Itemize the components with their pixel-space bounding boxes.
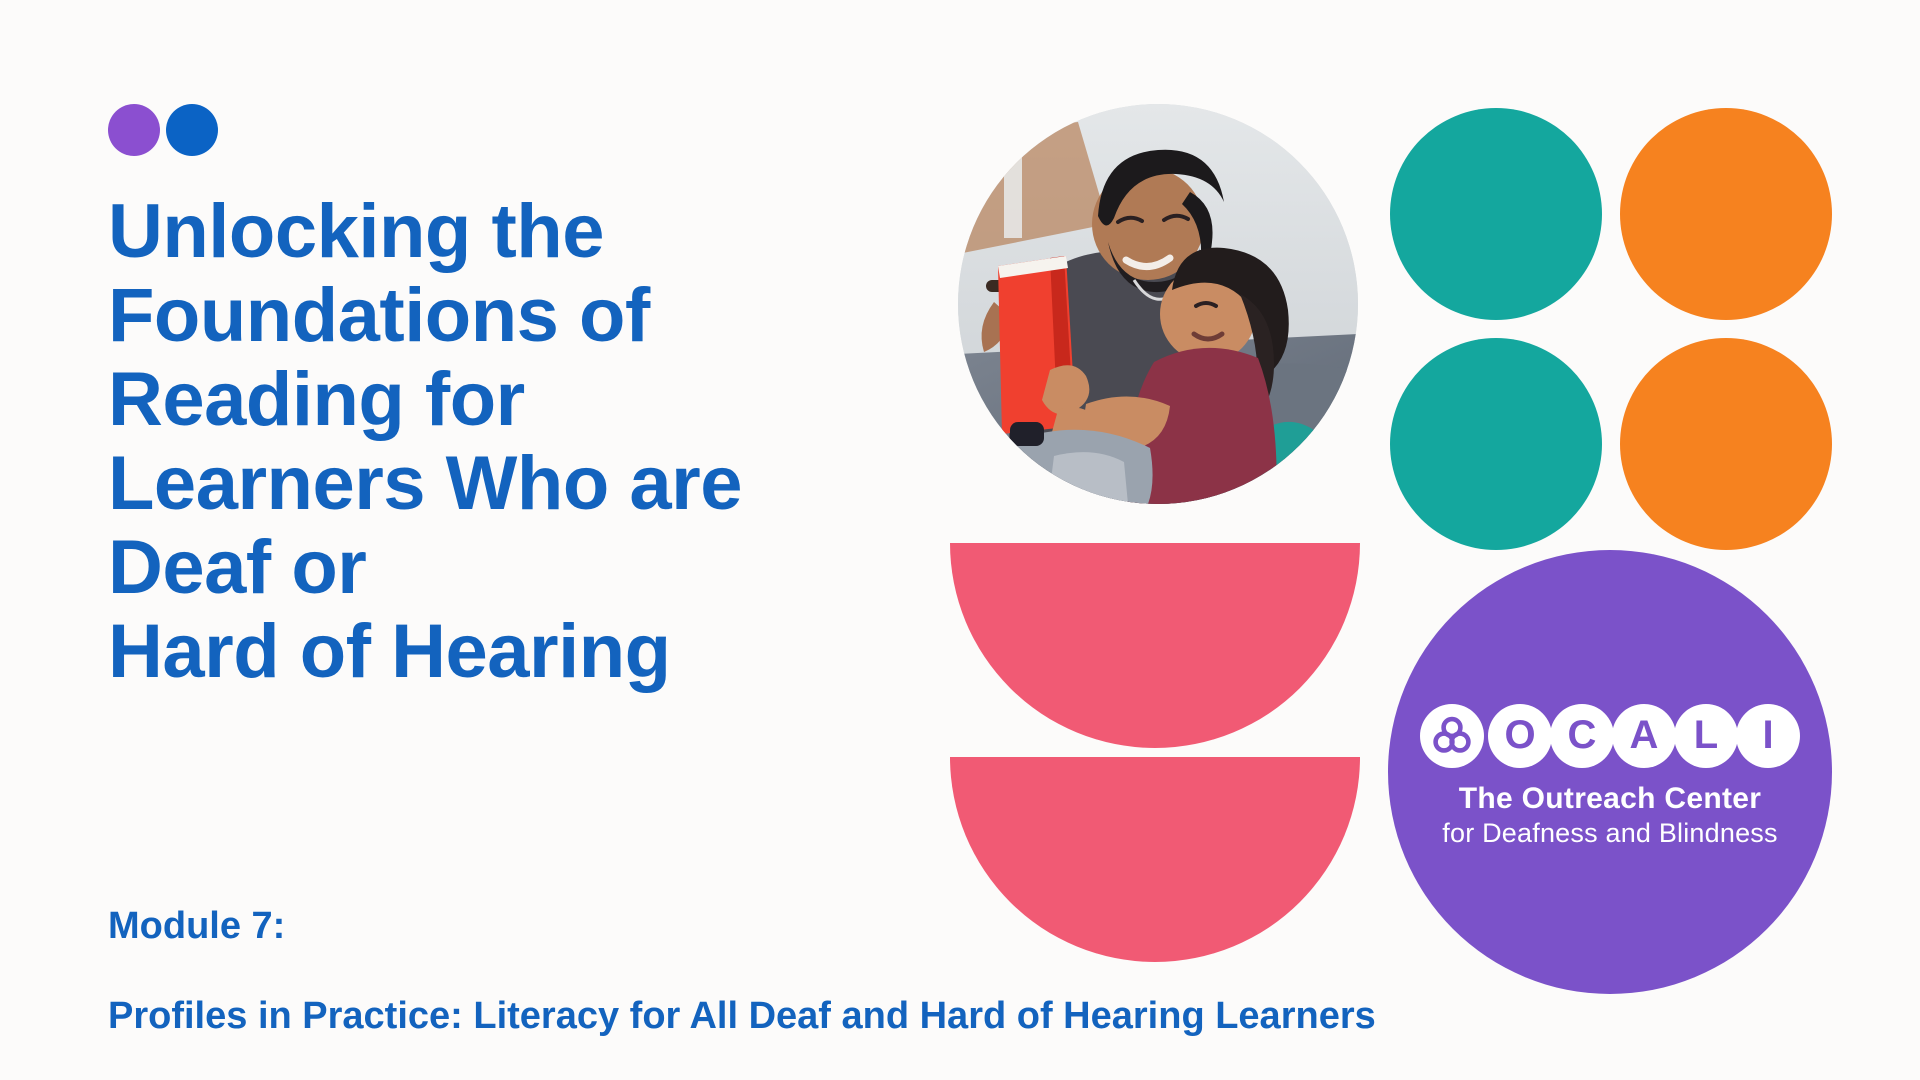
trefoil-rings-icon: [1420, 704, 1484, 768]
ocali-letter-c: C: [1550, 704, 1614, 768]
blue-dot-icon: [166, 104, 218, 156]
module-label: Module 7:: [108, 905, 285, 948]
hero-photo-illustration: [958, 104, 1358, 504]
title-line-2: Foundations of: [108, 274, 918, 358]
ocali-letter-o: O: [1488, 704, 1552, 768]
hero-photo: [958, 104, 1358, 504]
ocali-letter-a: A: [1612, 704, 1676, 768]
decorative-dots-group: [108, 104, 243, 156]
title-line-6: Hard of Hearing: [108, 610, 918, 694]
module-subtitle: Profiles in Practice: Literacy for All D…: [108, 995, 1376, 1038]
teal-circle-top-left: [1390, 108, 1602, 320]
pink-half-circle-lower: [950, 757, 1360, 962]
title-line-4: Learners Who are: [108, 442, 918, 526]
teal-circle-bottom-left: [1390, 338, 1602, 550]
title-slide: Unlocking the Foundations of Reading for…: [0, 0, 1920, 1080]
title-line-3: Reading for: [108, 358, 918, 442]
ocali-letter-i: I: [1736, 704, 1800, 768]
title-line-1: Unlocking the: [108, 190, 918, 274]
ocali-logo: O C A L I The Outreach Center for Deafne…: [1388, 550, 1832, 994]
orange-circle-top-right: [1620, 108, 1832, 320]
trefoil-rings-glyph: [1429, 713, 1475, 759]
ocali-tagline-secondary: for Deafness and Blindness: [1442, 818, 1777, 849]
orange-circle-bottom-right: [1620, 338, 1832, 550]
purple-dot-icon: [108, 104, 160, 156]
ocali-wordmark: O C A L I: [1420, 704, 1800, 768]
ocali-tagline-primary: The Outreach Center: [1459, 782, 1761, 816]
page-title: Unlocking the Foundations of Reading for…: [108, 190, 918, 694]
pink-half-circle-upper: [950, 543, 1360, 748]
ocali-letter-l: L: [1674, 704, 1738, 768]
title-line-5: Deaf or: [108, 526, 918, 610]
